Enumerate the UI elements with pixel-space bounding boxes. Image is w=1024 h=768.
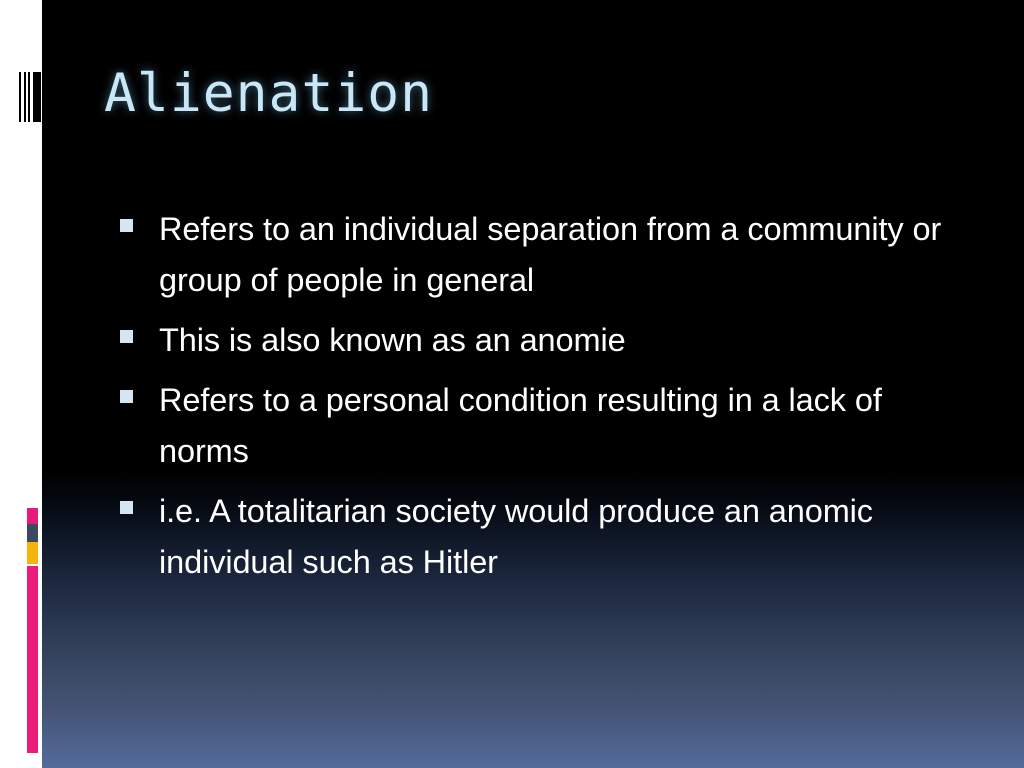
bullet-square-icon: [120, 390, 133, 403]
bullet-text: i.e. A totalitarian society would produc…: [159, 486, 949, 588]
barcode-stripes-decoration: [19, 72, 41, 122]
list-item: Refers to an individual separation from …: [120, 204, 980, 306]
bullet-square-icon: [120, 219, 133, 232]
stripe-bar: [28, 72, 31, 122]
stripe-bar: [19, 72, 21, 122]
bullet-text: Refers to an individual separation from …: [159, 204, 949, 306]
stripe-bar: [33, 72, 41, 122]
accent-bar-slate: [27, 524, 38, 542]
bullet-list: Refers to an individual separation from …: [120, 204, 980, 597]
slide-title: Alienation: [104, 63, 433, 124]
stripe-bar: [24, 72, 26, 122]
bullet-square-icon: [120, 330, 133, 343]
bullet-square-icon: [120, 501, 133, 514]
accent-bar-magenta: [27, 566, 38, 753]
list-item: i.e. A totalitarian society would produc…: [120, 486, 980, 588]
accent-bar-pink-top: [27, 508, 38, 524]
list-item: This is also known as an anomie: [120, 315, 980, 366]
list-item: Refers to a personal condition resulting…: [120, 375, 980, 477]
bullet-text: This is also known as an anomie: [159, 315, 949, 366]
presentation-slide: Alienation Refers to an individual separ…: [0, 0, 1024, 768]
accent-bar-gold: [27, 542, 38, 564]
bullet-text: Refers to a personal condition resulting…: [159, 375, 949, 477]
